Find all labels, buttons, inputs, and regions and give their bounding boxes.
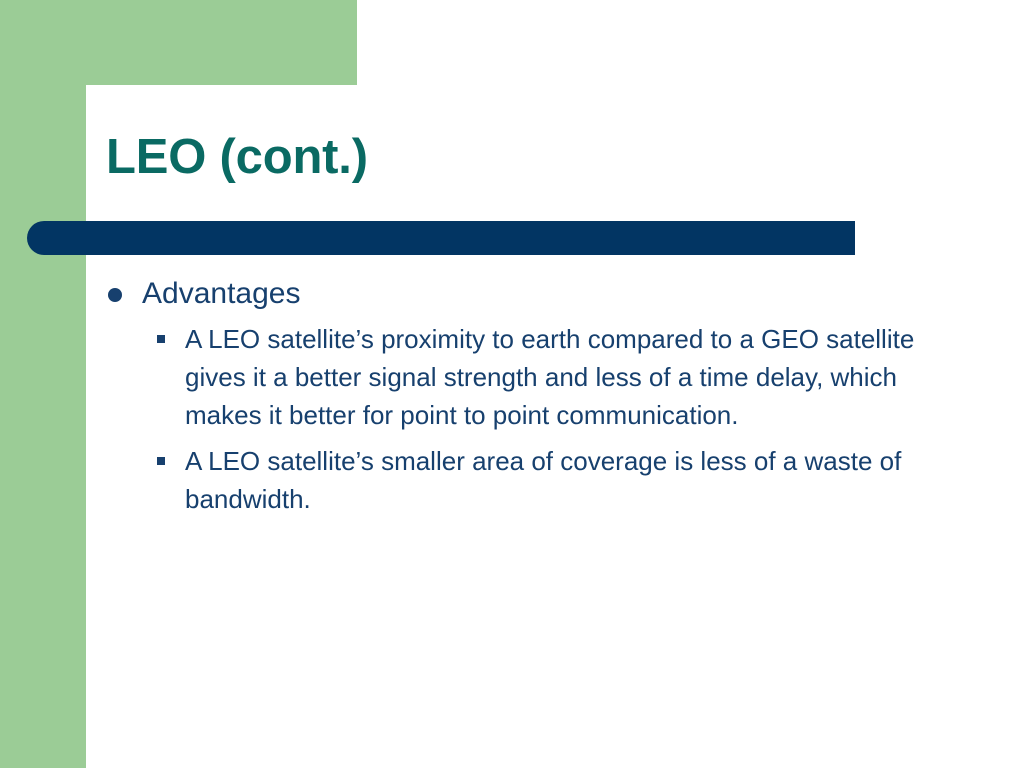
slide-canvas: LEO (cont.) Advantages A LEO satellite’s…: [0, 0, 1024, 768]
sub-bullet-list: A LEO satellite’s proximity to earth com…: [0, 320, 1024, 518]
slide-title: LEO (cont.): [106, 126, 966, 188]
bullet-item-level2-label: A LEO satellite’s smaller area of covera…: [185, 446, 901, 514]
slide-body: Advantages A LEO satellite’s proximity t…: [0, 274, 1024, 526]
bullet-item-level1: Advantages: [0, 274, 1024, 314]
bullet-item-level2: A LEO satellite’s proximity to earth com…: [0, 320, 1024, 434]
slide-title-text: LEO (cont.): [106, 130, 368, 184]
bullet-item-level2: A LEO satellite’s smaller area of covera…: [0, 442, 1024, 518]
title-divider-rule: [27, 221, 855, 255]
bullet-item-level2-label: A LEO satellite’s proximity to earth com…: [185, 324, 914, 430]
square-bullet-icon: [157, 335, 165, 343]
bullet-item-level1-label: Advantages: [142, 277, 300, 310]
green-top-accent-block: [0, 0, 357, 85]
disc-bullet-icon: [108, 288, 122, 302]
square-bullet-icon: [157, 457, 165, 465]
